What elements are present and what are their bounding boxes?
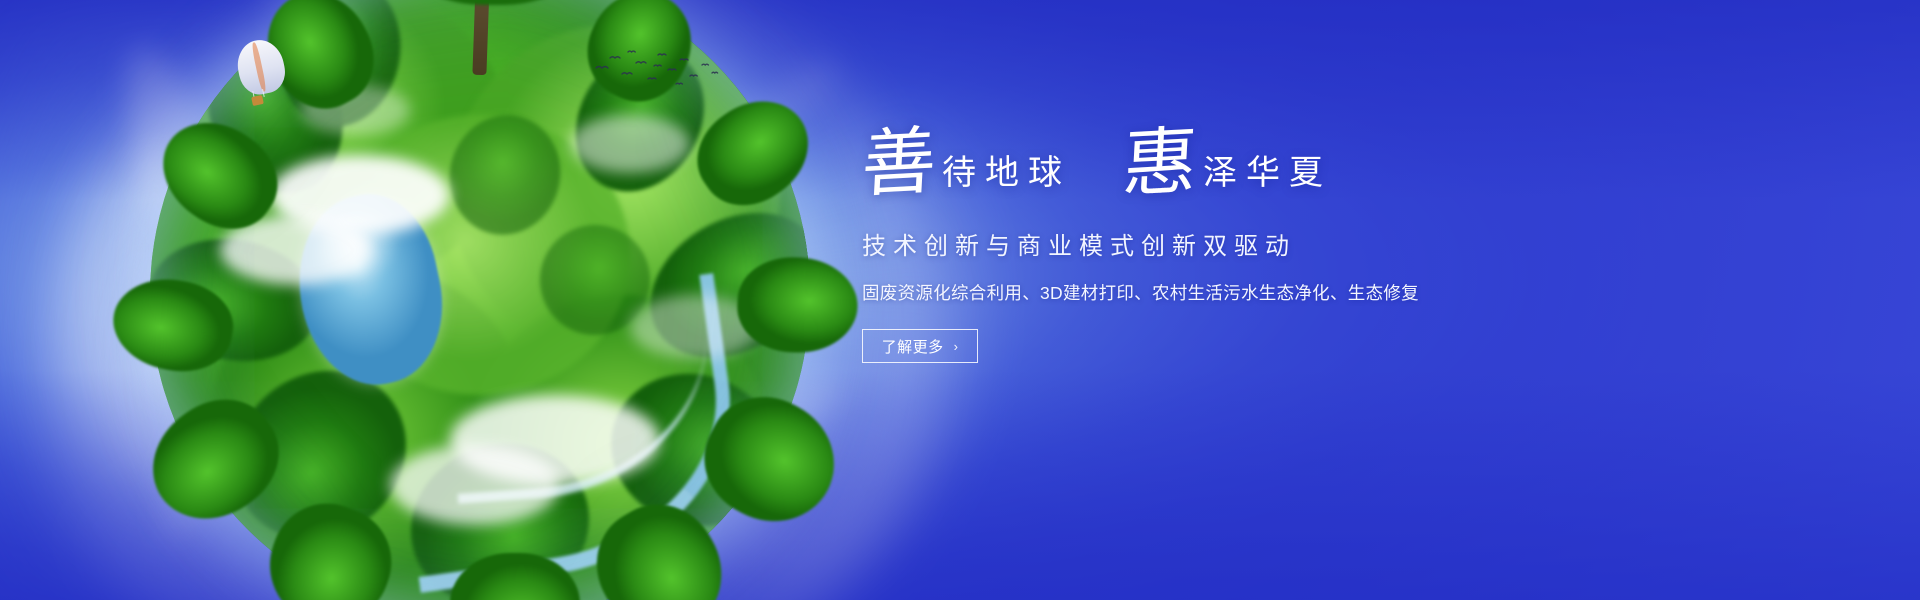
chevron-right-icon: › xyxy=(954,339,959,354)
headline-rest-1: 待地球 xyxy=(942,156,1071,190)
headline-brush-char-1: 善 xyxy=(860,124,938,202)
hero-banner: 善 待地球 惠 泽华夏 技术创新与商业模式创新双驱动 固废资源化综合利用、3D建… xyxy=(0,0,1920,600)
hero-copy: 善 待地球 惠 泽华夏 技术创新与商业模式创新双驱动 固废资源化综合利用、3D建… xyxy=(862,126,1662,363)
headline-brush-char-2: 惠 xyxy=(1121,124,1199,202)
page-title: 善 待地球 惠 泽华夏 xyxy=(862,126,1662,200)
headline-rest-2: 泽华夏 xyxy=(1203,156,1332,190)
learn-more-button[interactable]: 了解更多 › xyxy=(862,329,978,363)
learn-more-label: 了解更多 xyxy=(882,336,944,357)
hero-description: 固废资源化综合利用、3D建材打印、农村生活污水生态净化、生态修复 xyxy=(862,280,1662,305)
bird-flock-icon xyxy=(592,46,722,94)
surface-cloud xyxy=(390,445,560,525)
surface-cloud xyxy=(570,115,690,173)
hero-subtitle: 技术创新与商业模式创新双驱动 xyxy=(862,226,1662,261)
